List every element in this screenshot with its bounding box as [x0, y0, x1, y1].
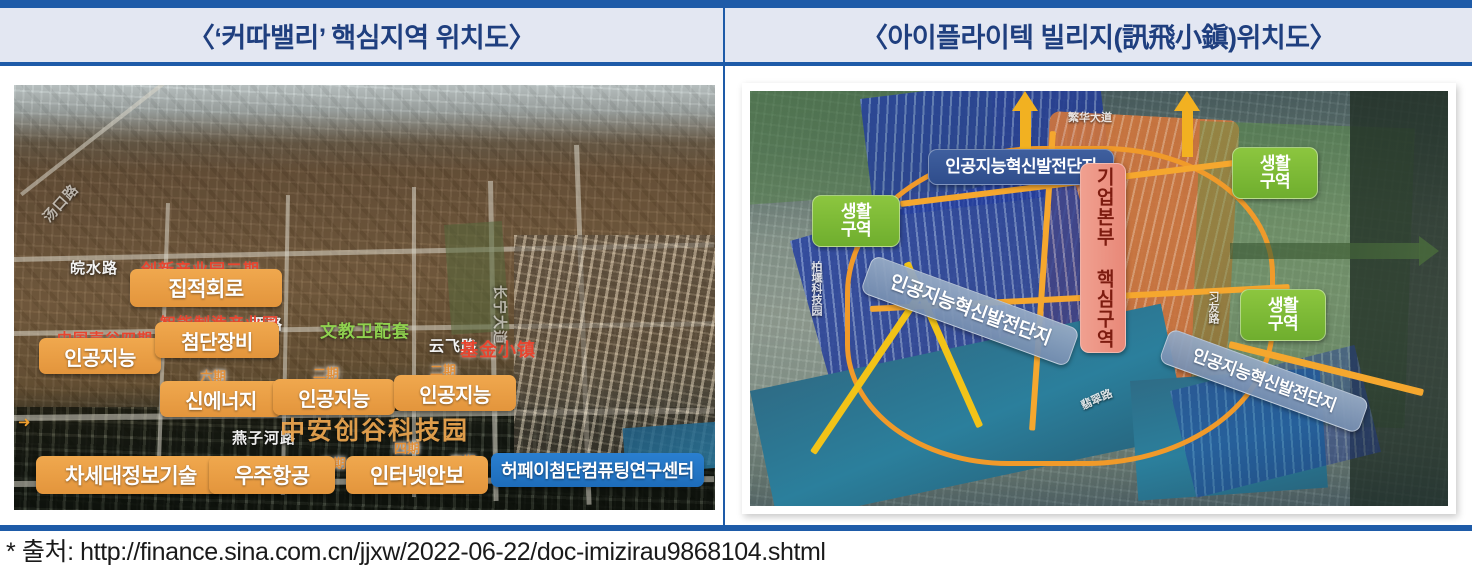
chip-integrated-circuit: 집적회로 [130, 269, 282, 307]
chip-internet-security: 인터넷안보 [346, 456, 488, 494]
chip-new-energy: 신에너지 [160, 381, 282, 417]
north-arrow-right-head [1174, 91, 1200, 111]
north-arrow-right-stem [1182, 109, 1193, 157]
chip-ai-1: 인공지능 [39, 338, 161, 374]
east-arrow [1230, 243, 1420, 259]
chip-label: 허페이첨단컴퓨팅연구센터 [501, 457, 694, 483]
left-panel-title: 〈‘커따밸리’ 핵심지역 위치도〉 [188, 16, 535, 55]
plan-road-xiyou: 习友路 [1205, 291, 1221, 324]
source-note: * 출처: http://finance.sina.com.cn/jjxw/20… [6, 533, 1406, 567]
label-text: 생활 구역 [1260, 155, 1290, 192]
chip-label: 차세대정보기술 [65, 460, 197, 490]
chip-label: 우주항공 [234, 460, 309, 490]
right-masterplan-map: 繁华大道 柏堰科技园 习友路 翡翠路 인공지능혁신발전단지 인공지능혁신발전단지… [742, 83, 1456, 514]
panel-divider [723, 0, 725, 527]
left-satellite-map: 皖水路 西路 云飞路 燕子河路 汤口路 长宁大道 创新产业园二期 智能制造产业园… [14, 85, 715, 510]
chip-next-gen-it: 차세대정보기술 [36, 456, 226, 494]
header-cell-left: 〈‘커따밸리’ 핵심지역 위치도〉 [0, 8, 723, 62]
chip-ai-3: 인공지능 [394, 375, 516, 411]
label-text: 기업본부 핵심구역 [1093, 167, 1114, 349]
label-living-zone-bottom: 생활 구역 [1240, 289, 1326, 341]
chip-label: 인공지능 [64, 342, 136, 371]
header-cell-right: 〈아이플라이텍 빌리지(訊飛小鎭)위치도〉 [725, 8, 1472, 62]
chip-aerospace: 우주항공 [209, 456, 335, 494]
plan-road-fanhua: 繁华大道 [1068, 109, 1112, 125]
plan-road-baiyan: 柏堰科技园 [808, 261, 824, 316]
chip-label: 인공지능 [419, 379, 491, 408]
chip-ai-2: 인공지능 [273, 379, 395, 415]
chip-hefei-advanced-computing-center: 허페이첨단컴퓨팅연구센터 [491, 453, 704, 487]
chip-label: 인터넷안보 [370, 460, 464, 490]
road-name-wanshui: 皖水路 [70, 257, 118, 278]
north-arrow-left-head [1012, 91, 1038, 111]
chip-advanced-equipment: 첨단장비 [155, 322, 279, 358]
label-living-zone-top: 생활 구역 [1232, 147, 1318, 199]
chip-label: 첨단장비 [181, 326, 253, 355]
phase-tag-5: 四期 [394, 438, 420, 457]
label-living-zone-left: 생활 구역 [812, 195, 900, 247]
chip-label: 신에너지 [185, 385, 257, 414]
header-band: 〈‘커따밸리’ 핵심지역 위치도〉 〈아이플라이텍 빌리지(訊飛小鎭)위치도〉 [0, 0, 1472, 66]
label-text: 생활 구역 [1268, 297, 1298, 334]
overlay-culture-facility: 文教卫配套 [320, 317, 410, 342]
label-text: 생활 구역 [841, 203, 871, 240]
overlay-fund-town: 基金小镇 [460, 336, 536, 362]
label-corporate-hq-core-zone: 기업본부 핵심구역 [1080, 163, 1126, 353]
masterplan-canvas: 繁华大道 柏堰科技园 习友路 翡翠路 인공지능혁신발전단지 인공지능혁신발전단지… [750, 91, 1448, 506]
overlay-zhongan-valley-park: 中安创谷科技园 [280, 411, 469, 447]
chip-label: 집적회로 [168, 273, 243, 303]
chip-label: 인공지능 [298, 383, 370, 412]
screenshot-root: 〈‘커따밸리’ 핵심지역 위치도〉 〈아이플라이텍 빌리지(訊飛小鎭)위치도〉 … [0, 0, 1472, 569]
label-text: 인공지능혁신발전단지 [945, 158, 1096, 176]
direction-arrow-left: ➜ [18, 413, 31, 431]
bottom-rule [0, 525, 1472, 531]
right-panel-title: 〈아이플라이텍 빌리지(訊飛小鎭)위치도〉 [861, 16, 1336, 55]
